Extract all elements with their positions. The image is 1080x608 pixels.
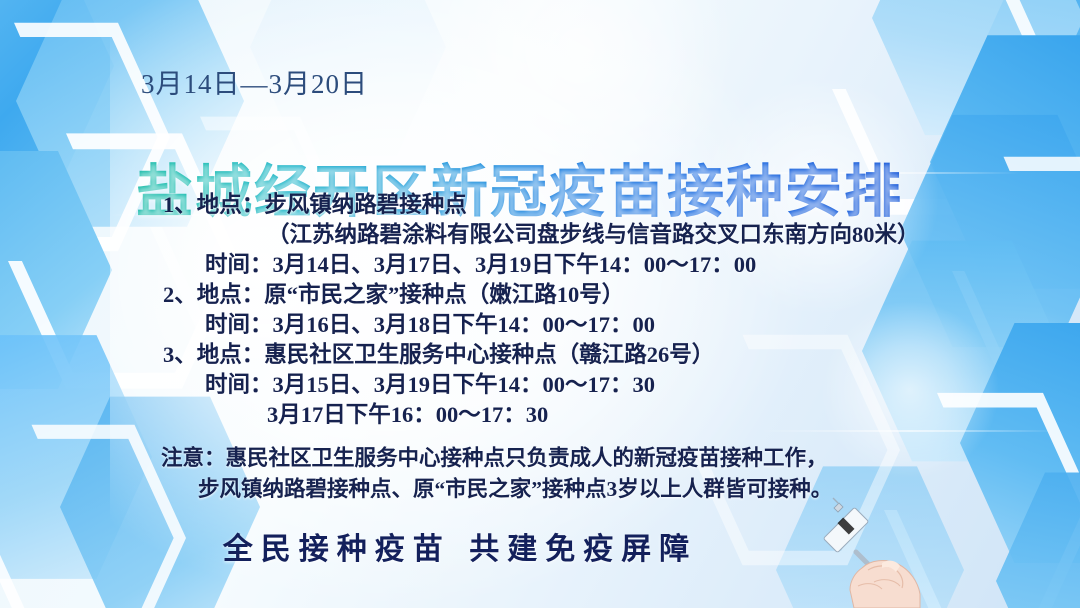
notice-line-1: 注意：惠民社区卫生服务中心接种点只负责成人的新冠疫苗接种工作， bbox=[0, 443, 1080, 474]
entry-1-time: 时间：3月14日、3月17日、3月19日下午14：00～17：00 bbox=[0, 250, 1080, 280]
schedule-list: 1、地点：步风镇纳路碧接种点 （江苏纳路碧涂料有限公司盘步线与信音路交叉口东南方… bbox=[0, 190, 1080, 430]
entry-2-time: 时间：3月16日、3月18日下午14：00～17：00 bbox=[0, 310, 1080, 340]
entry-1-location: 1、地点：步风镇纳路碧接种点 bbox=[0, 190, 1080, 220]
entry-3-time: 时间：3月15日、3月19日下午14：00～17：30 bbox=[0, 370, 1080, 400]
entry-1-address: （江苏纳路碧涂料有限公司盘步线与信音路交叉口东南方向80米） bbox=[0, 220, 1080, 250]
notice-line-2: 步风镇纳路碧接种点、原“市民之家”接种点3岁以上人群皆可接种。 bbox=[0, 474, 1080, 505]
entry-2-location: 2、地点：原“市民之家”接种点（嫩江路10号） bbox=[0, 280, 1080, 310]
entry-3-time-secondary: 3月17日下午16：00～17：30 bbox=[0, 400, 1080, 430]
poster-content: 3月14日—3月20日 盐城经开区新冠疫苗接种安排 1、地点：步风镇纳路碧接种点… bbox=[0, 0, 1080, 608]
date-range-label: 3月14日—3月20日 bbox=[141, 62, 368, 101]
slogan-text: 全民接种疫苗 共建免疫屏障 bbox=[0, 524, 1080, 568]
notice-section: 注意：惠民社区卫生服务中心接种点只负责成人的新冠疫苗接种工作， 步风镇纳路碧接种… bbox=[0, 443, 1080, 505]
vaccination-schedule-poster: 3月14日—3月20日 盐城经开区新冠疫苗接种安排 1、地点：步风镇纳路碧接种点… bbox=[0, 0, 1080, 608]
entry-3-location: 3、地点：惠民社区卫生服务中心接种点（赣江路26号） bbox=[0, 340, 1080, 370]
